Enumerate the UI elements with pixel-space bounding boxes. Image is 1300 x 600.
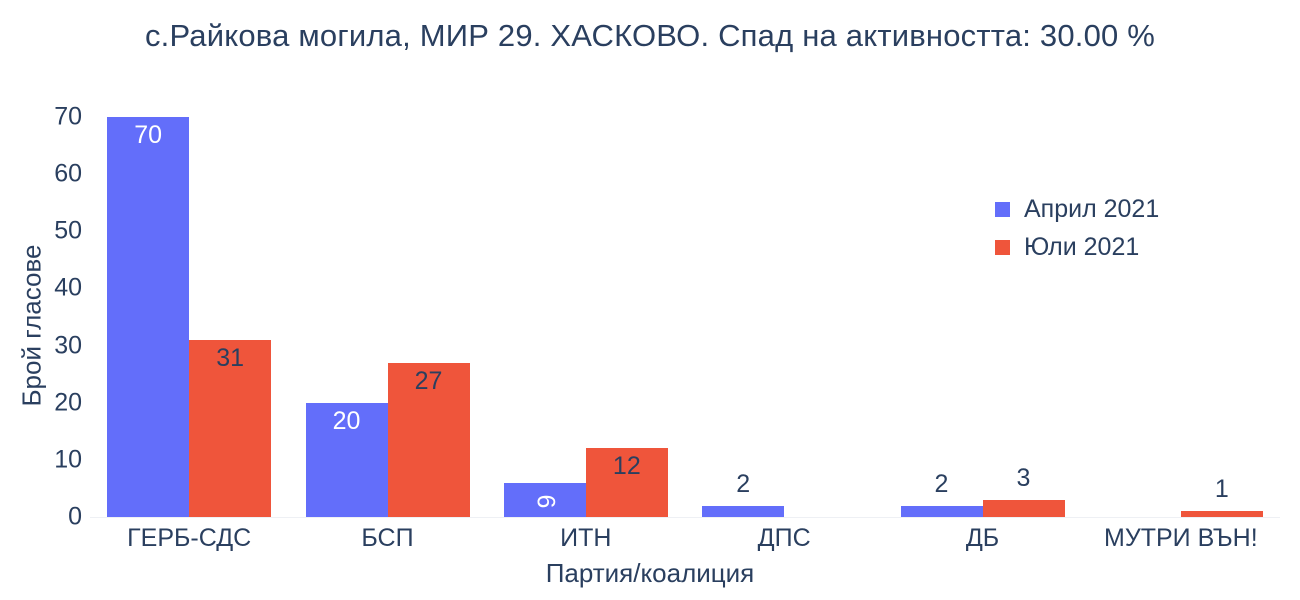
bar[interactable] xyxy=(702,506,784,517)
bar-value-label: 31 xyxy=(216,344,244,373)
legend-swatch-icon xyxy=(995,202,1010,217)
legend-item[interactable]: Април 2021 xyxy=(995,190,1159,228)
chart-legend: Април 2021Юли 2021 xyxy=(995,190,1159,266)
bar-value-label: 27 xyxy=(415,367,443,396)
x-axis-tick-label: БСП xyxy=(361,524,413,553)
bar-value-label: 2 xyxy=(736,470,750,499)
chart-title: с.Райкова могила, МИР 29. ХАСКОВО. Спад … xyxy=(0,18,1300,54)
y-axis-title: Брой гласове xyxy=(17,126,48,526)
x-axis-line xyxy=(90,517,1280,518)
legend-label: Април 2021 xyxy=(1024,195,1159,224)
legend-item[interactable]: Юли 2021 xyxy=(995,228,1159,266)
bar[interactable] xyxy=(901,506,983,517)
legend-swatch-icon xyxy=(995,240,1010,255)
bar-value-label: 2 xyxy=(935,470,949,499)
bar-value-label: 6 xyxy=(530,494,559,508)
x-axis-tick-label: ГЕРБ-СДС xyxy=(127,524,251,553)
plot-area xyxy=(90,110,1280,517)
x-axis-title: Партия/коалиция xyxy=(0,558,1300,589)
bar-chart-figure: с.Райкова могила, МИР 29. ХАСКОВО. Спад … xyxy=(0,0,1300,600)
bar[interactable] xyxy=(983,500,1065,517)
x-axis-tick-label: ДБ xyxy=(966,524,999,553)
x-axis-tick-label: ИТН xyxy=(560,524,611,553)
bar-value-label: 70 xyxy=(134,121,162,150)
x-axis-tick-label: ДПС xyxy=(758,524,811,553)
bar-value-label: 12 xyxy=(613,452,641,481)
x-axis-tick-label: МУТРИ ВЪН! xyxy=(1104,524,1258,553)
bar-value-label: 1 xyxy=(1215,475,1229,504)
bar[interactable] xyxy=(107,117,189,517)
bar-value-label: 3 xyxy=(1017,464,1031,493)
bar-value-label: 20 xyxy=(333,407,361,436)
legend-label: Юли 2021 xyxy=(1024,233,1139,262)
